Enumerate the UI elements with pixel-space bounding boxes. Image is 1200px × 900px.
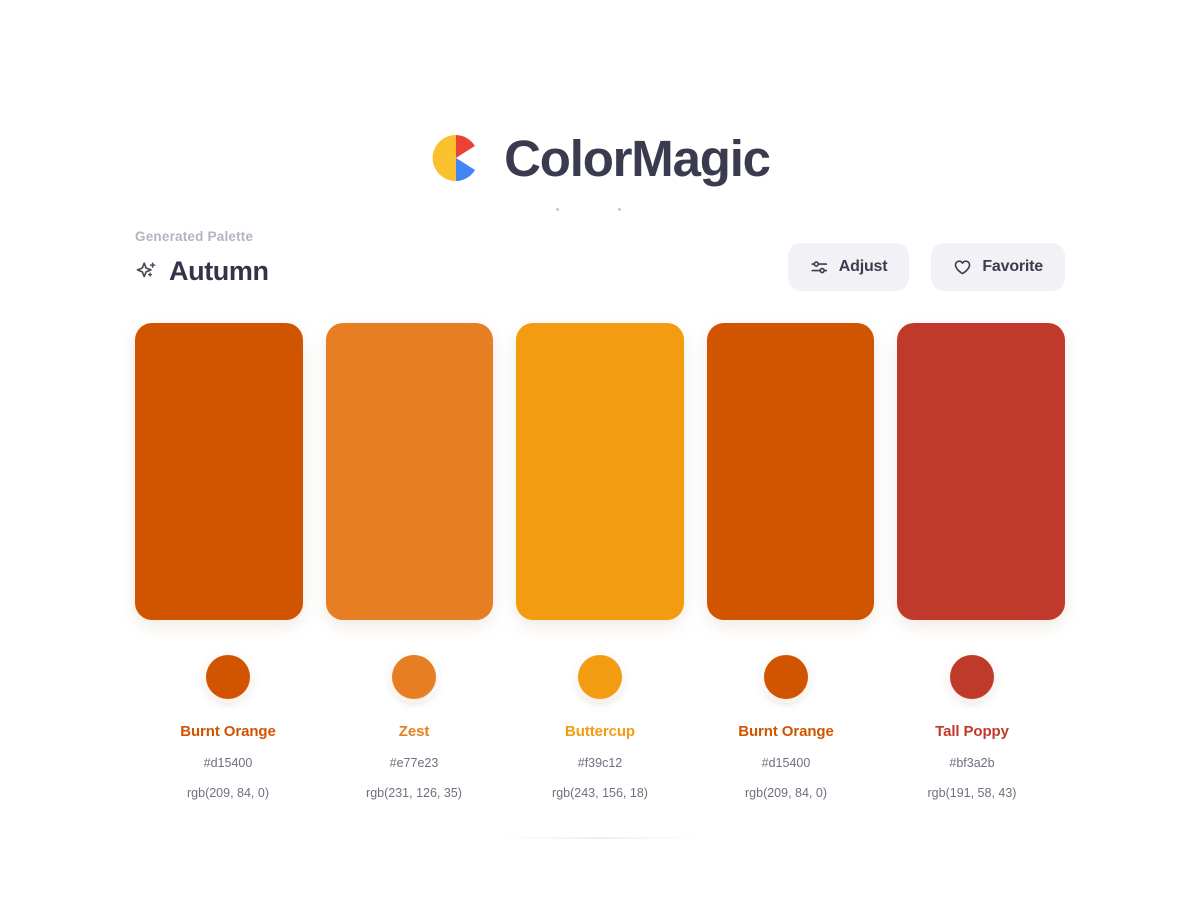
swatch-detail[interactable]: Zest #e77e23 rgb(231, 126, 35) — [321, 655, 507, 799]
swatch-hex[interactable]: #d15400 — [204, 757, 253, 770]
swatch-rgb[interactable]: rgb(209, 84, 0) — [745, 787, 827, 800]
heart-icon — [953, 258, 972, 277]
swatch-card[interactable] — [135, 323, 303, 620]
brand-dot-left — [556, 208, 559, 211]
swatch-card[interactable] — [707, 323, 875, 620]
colormagic-page: ColorMagic Generated Palette Autumn — [0, 0, 1200, 900]
brand-dot-right — [618, 208, 621, 211]
swatch-name: Tall Poppy — [935, 724, 1009, 739]
page-title: Autumn — [169, 258, 269, 285]
header-actions: Adjust Favorite — [788, 243, 1065, 291]
palette-header: Generated Palette Autumn — [135, 230, 1065, 302]
colormagic-pinwheel-logo-icon — [430, 132, 482, 184]
favorite-button-label: Favorite — [982, 258, 1043, 276]
brand-dots-decoration — [0, 206, 1200, 212]
favorite-button[interactable]: Favorite — [931, 243, 1065, 291]
adjust-button-label: Adjust — [839, 258, 888, 276]
sparkles-icon — [135, 259, 159, 283]
swatch-detail[interactable]: Buttercup #f39c12 rgb(243, 156, 18) — [507, 655, 693, 799]
palette-eyebrow-label: Generated Palette — [135, 230, 1065, 244]
swatch-rgb[interactable]: rgb(191, 58, 43) — [928, 787, 1017, 800]
swatch-name: Buttercup — [565, 724, 635, 739]
swatch-card[interactable] — [897, 323, 1065, 620]
adjust-button[interactable]: Adjust — [788, 243, 910, 291]
swatch-color-dot — [206, 655, 250, 699]
palette-swatch-details: Burnt Orange #d15400 rgb(209, 84, 0) Zes… — [135, 655, 1065, 799]
swatch-hex[interactable]: #e77e23 — [390, 757, 439, 770]
palette-swatch-cards — [135, 323, 1065, 620]
swatch-card[interactable] — [516, 323, 684, 620]
swatch-hex[interactable]: #d15400 — [762, 757, 811, 770]
brand-header: ColorMagic — [0, 132, 1200, 184]
footer-divider — [500, 837, 700, 839]
swatch-hex[interactable]: #f39c12 — [578, 757, 622, 770]
swatch-color-dot — [764, 655, 808, 699]
swatch-card[interactable] — [326, 323, 494, 620]
swatch-color-dot — [392, 655, 436, 699]
brand-name: ColorMagic — [504, 133, 770, 184]
swatch-name: Zest — [399, 724, 429, 739]
swatch-hex[interactable]: #bf3a2b — [949, 757, 994, 770]
swatch-detail[interactable]: Burnt Orange #d15400 rgb(209, 84, 0) — [135, 655, 321, 799]
swatch-rgb[interactable]: rgb(209, 84, 0) — [187, 787, 269, 800]
sliders-icon — [810, 258, 829, 277]
swatch-rgb[interactable]: rgb(231, 126, 35) — [366, 787, 462, 800]
swatch-color-dot — [950, 655, 994, 699]
swatch-rgb[interactable]: rgb(243, 156, 18) — [552, 787, 648, 800]
swatch-color-dot — [578, 655, 622, 699]
swatch-detail[interactable]: Burnt Orange #d15400 rgb(209, 84, 0) — [693, 655, 879, 799]
swatch-name: Burnt Orange — [180, 724, 275, 739]
swatch-detail[interactable]: Tall Poppy #bf3a2b rgb(191, 58, 43) — [879, 655, 1065, 799]
swatch-name: Burnt Orange — [738, 724, 833, 739]
